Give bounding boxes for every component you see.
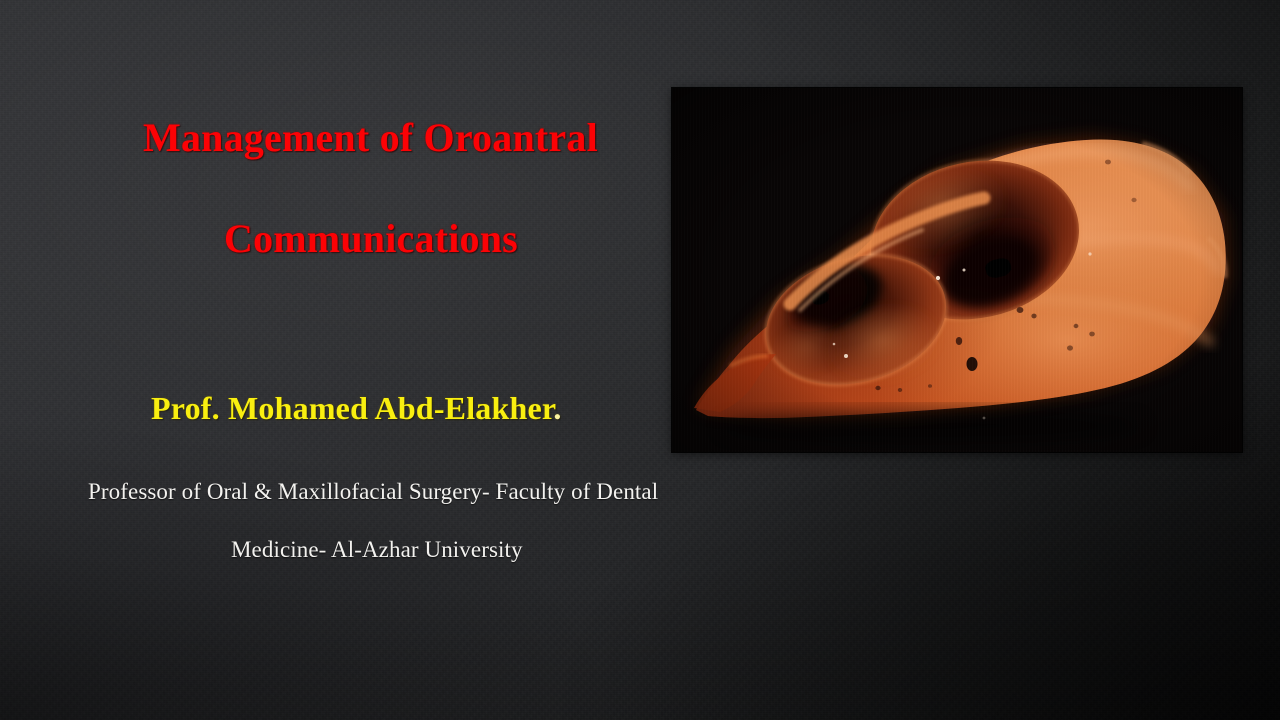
presentation-slide: Management of Oroantral Communications P… [0, 0, 1280, 720]
affiliation-line-2: Medicine- Al-Azhar University [231, 537, 523, 563]
slide-title-line-1: Management of Oroantral [143, 114, 598, 161]
specimen-illustration [672, 88, 1242, 452]
author-name-text: Prof. Mohamed Abd-Elakher [151, 390, 553, 426]
maxillary-sinus-specimen-photo [672, 88, 1242, 452]
affiliation-line-1: Professor of Oral & Maxillofacial Surger… [88, 479, 658, 505]
specimen-cast-shadow [722, 410, 1142, 442]
author-name: Prof. Mohamed Abd-Elakher. [151, 390, 562, 427]
author-name-period: . [553, 390, 561, 426]
slide-title-line-2: Communications [224, 215, 518, 262]
